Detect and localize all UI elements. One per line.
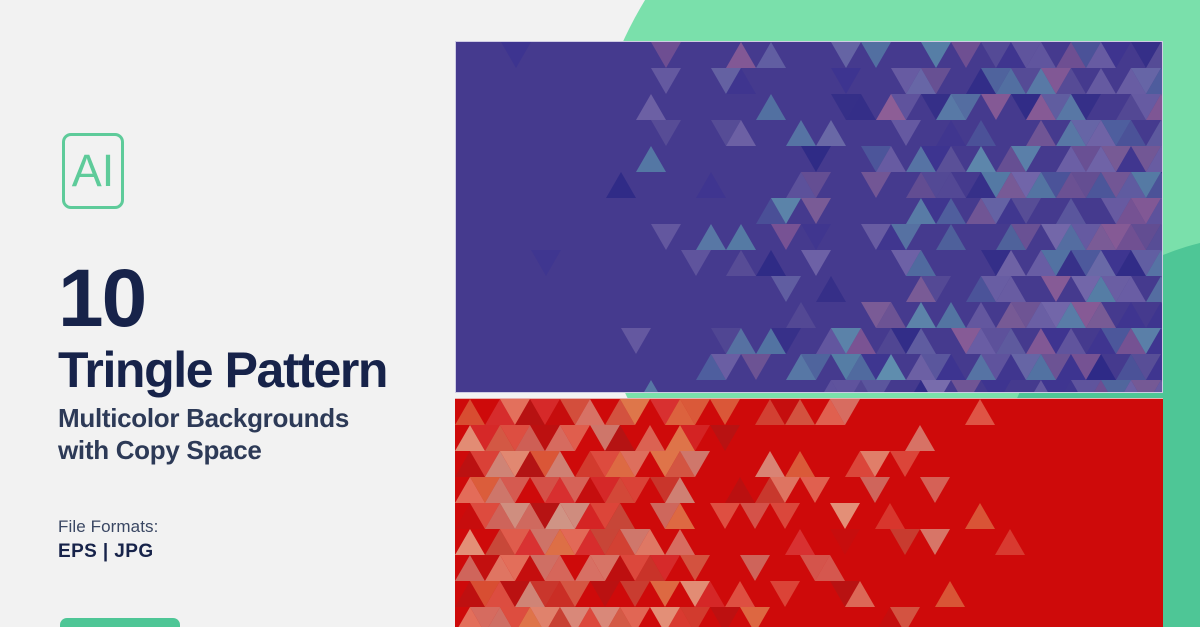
cta-button[interactable] <box>60 618 180 627</box>
info-column: AI 10 Tringle Pattern Multicolor Backgro… <box>0 0 455 627</box>
subtitle-line-1: Multicolor Backgrounds <box>58 402 349 434</box>
ai-format-badge: AI <box>62 133 124 209</box>
file-formats-label: File Formats: <box>58 517 158 537</box>
ai-badge-label: AI <box>72 148 115 193</box>
page-title: Tringle Pattern <box>58 345 387 395</box>
purple-triangle-preview[interactable] <box>455 41 1163 393</box>
poster-canvas: AI 10 Tringle Pattern Multicolor Backgro… <box>0 0 1200 627</box>
red-triangle-preview[interactable] <box>455 398 1163 627</box>
file-formats-value: EPS | JPG <box>58 541 154 563</box>
item-count: 10 <box>58 258 145 340</box>
subtitle-line-2: with Copy Space <box>58 434 349 466</box>
page-subtitle: Multicolor Backgrounds with Copy Space <box>58 402 349 466</box>
